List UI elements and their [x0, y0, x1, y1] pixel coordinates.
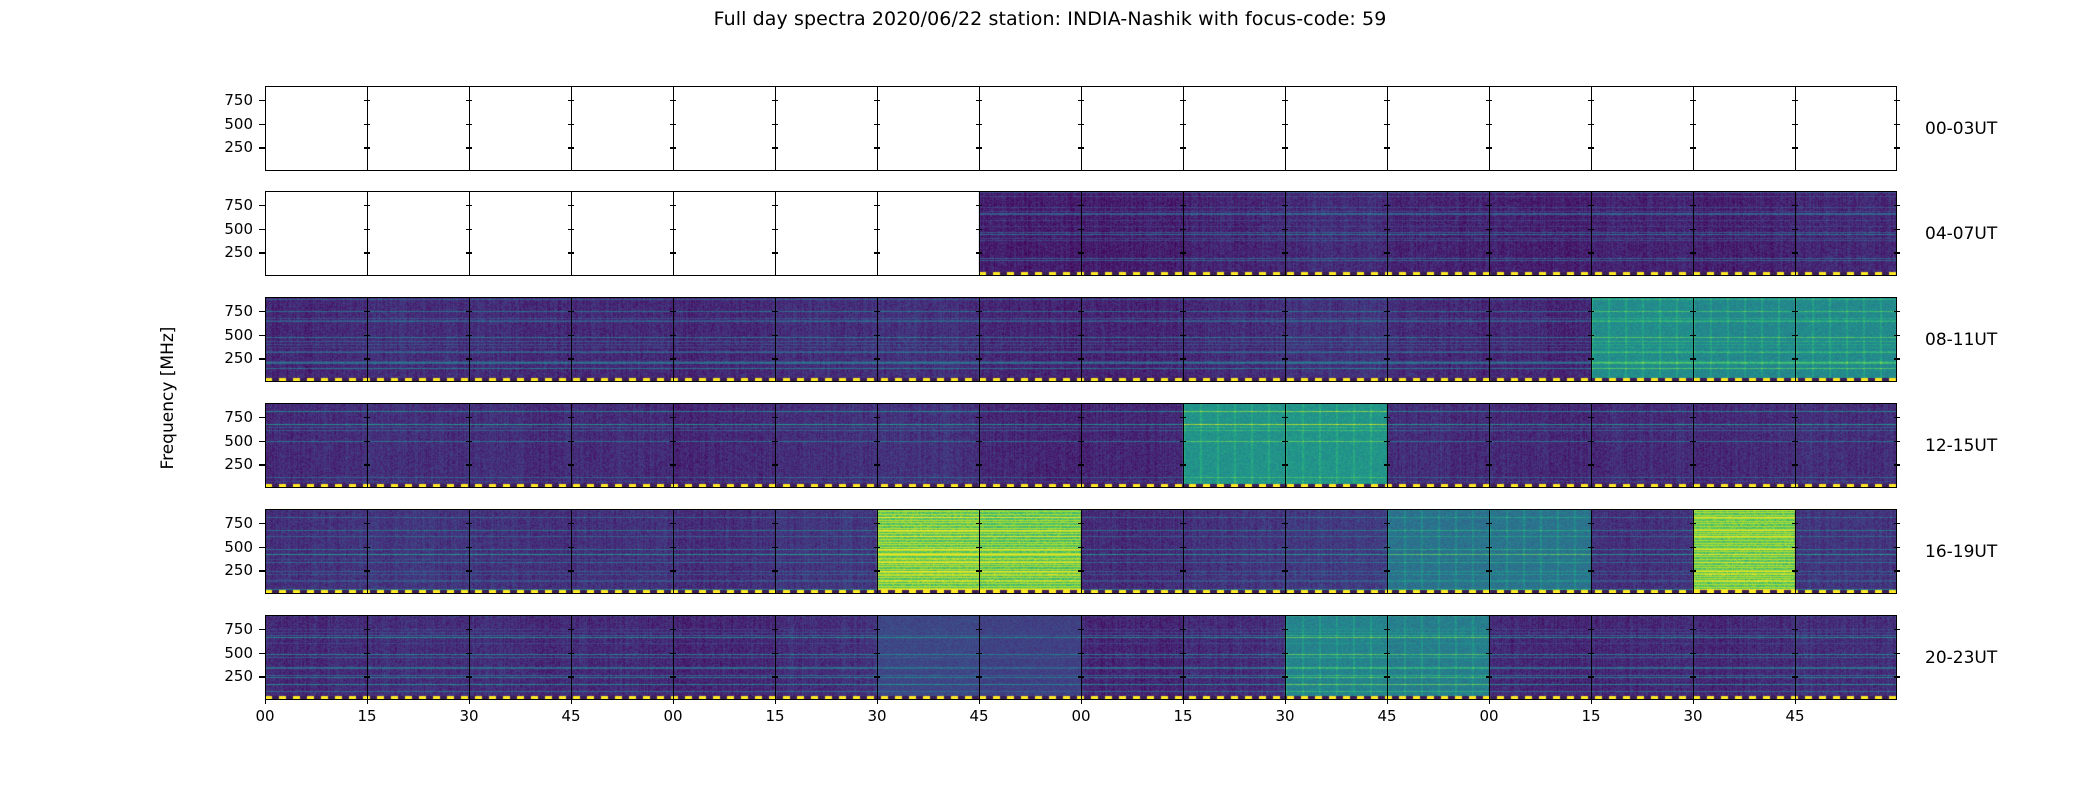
- y-tick-mark: [466, 676, 472, 677]
- y-tick-mark: [1792, 252, 1798, 253]
- y-tick-mark: [1588, 547, 1594, 548]
- y-tick-mark: [1588, 441, 1594, 442]
- subpanel-divider: [469, 615, 470, 700]
- row-label-12-15ut: 12-15UT: [1925, 436, 1997, 456]
- subpanel-divider: [877, 86, 878, 171]
- subpanel-divider: [1183, 191, 1184, 276]
- y-tick-mark: [1486, 205, 1492, 206]
- x-tick-mark: [1591, 700, 1592, 704]
- y-tick-mark: [1690, 417, 1696, 418]
- page-title: Full day spectra 2020/06/22 station: IND…: [0, 8, 2100, 30]
- y-tick-mark: [670, 147, 676, 148]
- y-tick-mark: [1384, 205, 1390, 206]
- y-tick-mark: [1588, 653, 1594, 654]
- subpanel-divider: [1081, 615, 1082, 700]
- x-tick-label: 15: [357, 707, 376, 725]
- y-tick-mark: [1180, 441, 1186, 442]
- y-tick-mark: [1180, 523, 1186, 524]
- subpanel-divider: [571, 509, 572, 594]
- subpanel-divider: [1387, 403, 1388, 488]
- y-tick-mark: [670, 335, 676, 336]
- y-tick-mark: [1792, 676, 1798, 677]
- x-tick-mark: [775, 700, 776, 704]
- y-tick-mark: [1282, 252, 1288, 253]
- subpanel-divider: [673, 297, 674, 382]
- subpanel-divider: [469, 191, 470, 276]
- y-tick-mark: [1486, 311, 1492, 312]
- spectrogram-row-16-19ut: [265, 509, 1897, 594]
- x-tick-label: 30: [1275, 707, 1294, 725]
- subpanel-divider: [1591, 403, 1592, 488]
- y-tick-mark: [364, 358, 370, 359]
- y-tick-mark: [1792, 570, 1798, 571]
- subpanel-divider: [1591, 615, 1592, 700]
- subpanel-divider: [469, 509, 470, 594]
- y-tick-mark: [976, 441, 982, 442]
- y-tick-mark: [1792, 335, 1798, 336]
- y-tick-mark: [1486, 252, 1492, 253]
- y-tick-mark: [1792, 205, 1798, 206]
- y-tick-mark: [364, 441, 370, 442]
- y-tick-mark: [772, 252, 778, 253]
- subpanel-divider: [1591, 509, 1592, 594]
- y-tick-label: 250: [224, 243, 253, 261]
- y-tick-mark: [1180, 464, 1186, 465]
- x-tick-mark: [1183, 700, 1184, 704]
- y-tick-mark: [1894, 676, 1900, 677]
- y-tick-mark: [364, 570, 370, 571]
- y-tick-mark: [1384, 547, 1390, 548]
- subpanel-divider: [1081, 191, 1082, 276]
- y-tick-mark: [1384, 311, 1390, 312]
- y-tick-mark: [1078, 676, 1084, 677]
- y-tick-mark: [1282, 147, 1288, 148]
- y-tick-mark: [1486, 358, 1492, 359]
- y-tick-mark: [670, 311, 676, 312]
- spectrogram-row-20-23ut: [265, 615, 1897, 700]
- subpanel-divider: [1489, 509, 1490, 594]
- y-tick-mark: [772, 147, 778, 148]
- y-tick-mark: [1282, 205, 1288, 206]
- subpanel-divider: [673, 615, 674, 700]
- subpanel-divider: [1795, 297, 1796, 382]
- y-tick-mark: [1486, 547, 1492, 548]
- y-tick-mark: [976, 229, 982, 230]
- y-tick-mark: [1282, 229, 1288, 230]
- subpanel-divider: [775, 403, 776, 488]
- x-tick-mark: [265, 700, 266, 704]
- y-tick-mark: [1384, 523, 1390, 524]
- y-tick-mark: [1384, 464, 1390, 465]
- y-tick-mark: [1078, 229, 1084, 230]
- y-tick-mark: [1180, 547, 1186, 548]
- subpanel-divider: [979, 615, 980, 700]
- y-tick-mark: [976, 358, 982, 359]
- subpanel-divider: [979, 509, 980, 594]
- y-tick-mark: [1180, 653, 1186, 654]
- y-tick-mark: [976, 124, 982, 125]
- subpanel-divider: [877, 403, 878, 488]
- y-tick-mark: [364, 124, 370, 125]
- y-tick-mark: [1792, 547, 1798, 548]
- y-tick-mark: [1078, 124, 1084, 125]
- y-tick-mark: [1486, 441, 1492, 442]
- y-tick-label: 500: [224, 326, 253, 344]
- y-tick-label: 500: [224, 538, 253, 556]
- y-tick-mark: [1486, 629, 1492, 630]
- y-tick-mark: [466, 653, 472, 654]
- y-tick-mark: [772, 335, 778, 336]
- y-tick-mark: [259, 358, 265, 359]
- y-tick-mark: [1180, 147, 1186, 148]
- subpanel-divider: [1081, 297, 1082, 382]
- y-tick-mark: [466, 523, 472, 524]
- y-tick-mark: [364, 523, 370, 524]
- y-tick-mark: [1078, 335, 1084, 336]
- y-tick-mark: [976, 570, 982, 571]
- y-tick-mark: [772, 629, 778, 630]
- y-tick-mark: [772, 523, 778, 524]
- y-tick-mark: [1894, 464, 1900, 465]
- subpanel-divider: [571, 297, 572, 382]
- y-tick-mark: [670, 229, 676, 230]
- y-tick-mark: [259, 205, 265, 206]
- y-tick-mark: [1690, 464, 1696, 465]
- y-tick-mark: [466, 547, 472, 548]
- y-tick-label: 750: [224, 302, 253, 320]
- y-tick-mark: [670, 547, 676, 548]
- y-tick-mark: [1078, 205, 1084, 206]
- y-tick-mark: [1180, 676, 1186, 677]
- y-tick-mark: [1690, 311, 1696, 312]
- subpanel-divider: [775, 191, 776, 276]
- subpanel-divider: [367, 615, 368, 700]
- y-tick-mark: [1894, 124, 1900, 125]
- y-tick-mark: [1486, 676, 1492, 677]
- x-tick-label: 00: [1479, 707, 1498, 725]
- subpanel-divider: [1387, 86, 1388, 171]
- y-tick-mark: [1282, 629, 1288, 630]
- y-tick-mark: [976, 676, 982, 677]
- y-tick-mark: [1078, 629, 1084, 630]
- y-tick-label: 250: [224, 138, 253, 156]
- y-tick-mark: [1588, 124, 1594, 125]
- y-tick-mark: [1894, 229, 1900, 230]
- y-tick-mark: [1384, 358, 1390, 359]
- y-tick-mark: [364, 252, 370, 253]
- y-tick-mark: [1282, 523, 1288, 524]
- y-tick-mark: [466, 358, 472, 359]
- y-tick-mark: [568, 570, 574, 571]
- y-tick-mark: [874, 417, 880, 418]
- y-tick-mark: [1282, 441, 1288, 442]
- y-tick-mark: [466, 124, 472, 125]
- y-tick-mark: [874, 676, 880, 677]
- y-axis-label: Frequency [MHz]: [158, 327, 178, 470]
- subpanel-divider: [1183, 86, 1184, 171]
- y-tick-mark: [1078, 417, 1084, 418]
- y-tick-mark: [772, 358, 778, 359]
- y-tick-mark: [1588, 229, 1594, 230]
- x-tick-label: 45: [969, 707, 988, 725]
- subpanel-divider: [367, 509, 368, 594]
- y-tick-mark: [1690, 629, 1696, 630]
- y-tick-mark: [466, 417, 472, 418]
- y-tick-mark: [1486, 147, 1492, 148]
- y-tick-mark: [259, 252, 265, 253]
- subpanel-divider: [367, 297, 368, 382]
- y-tick-label: 750: [224, 196, 253, 214]
- y-tick-mark: [1078, 547, 1084, 548]
- row-label-00-03ut: 00-03UT: [1925, 119, 1997, 139]
- y-tick-label: 500: [224, 220, 253, 238]
- y-tick-mark: [1282, 358, 1288, 359]
- y-tick-mark: [670, 205, 676, 206]
- y-tick-mark: [874, 252, 880, 253]
- y-tick-mark: [568, 124, 574, 125]
- y-tick-mark: [364, 653, 370, 654]
- y-tick-mark: [466, 441, 472, 442]
- y-tick-mark: [874, 358, 880, 359]
- y-tick-mark: [1282, 676, 1288, 677]
- y-tick-mark: [976, 335, 982, 336]
- y-tick-mark: [568, 358, 574, 359]
- y-tick-mark: [568, 335, 574, 336]
- y-tick-mark: [466, 229, 472, 230]
- subpanel-divider: [1387, 615, 1388, 700]
- y-tick-mark: [1282, 311, 1288, 312]
- y-tick-mark: [1792, 653, 1798, 654]
- y-tick-mark: [1486, 124, 1492, 125]
- y-tick-mark: [1690, 252, 1696, 253]
- subpanel-divider: [1387, 297, 1388, 382]
- y-tick-mark: [466, 205, 472, 206]
- y-tick-mark: [1690, 205, 1696, 206]
- y-tick-mark: [364, 100, 370, 101]
- y-tick-mark: [976, 205, 982, 206]
- y-tick-mark: [1690, 523, 1696, 524]
- x-tick-label: 45: [1377, 707, 1396, 725]
- y-tick-mark: [1690, 653, 1696, 654]
- subpanel-divider: [1693, 191, 1694, 276]
- y-tick-mark: [772, 205, 778, 206]
- y-tick-mark: [874, 124, 880, 125]
- y-tick-mark: [874, 570, 880, 571]
- y-tick-mark: [259, 229, 265, 230]
- subpanel-divider: [469, 86, 470, 171]
- subpanel-divider: [673, 509, 674, 594]
- x-tick-label: 45: [1785, 707, 1804, 725]
- y-tick-mark: [772, 417, 778, 418]
- y-tick-mark: [1894, 205, 1900, 206]
- y-tick-mark: [364, 147, 370, 148]
- subpanel-divider: [1183, 509, 1184, 594]
- subpanel-divider: [1285, 615, 1286, 700]
- subpanel-divider: [1693, 403, 1694, 488]
- y-tick-label: 250: [224, 455, 253, 473]
- subpanel-divider: [1489, 191, 1490, 276]
- y-tick-mark: [976, 464, 982, 465]
- subpanel-divider: [979, 403, 980, 488]
- y-tick-mark: [1486, 229, 1492, 230]
- y-tick-mark: [364, 417, 370, 418]
- y-tick-mark: [874, 547, 880, 548]
- y-tick-mark: [1894, 335, 1900, 336]
- subpanel-divider: [1591, 297, 1592, 382]
- y-tick-mark: [1078, 441, 1084, 442]
- y-tick-mark: [976, 100, 982, 101]
- y-tick-mark: [364, 205, 370, 206]
- y-tick-mark: [874, 147, 880, 148]
- y-tick-mark: [1486, 570, 1492, 571]
- spectrogram-row-04-07ut: [265, 191, 1897, 276]
- y-tick-mark: [772, 464, 778, 465]
- y-tick-mark: [874, 100, 880, 101]
- y-tick-mark: [874, 629, 880, 630]
- subpanel-divider: [979, 297, 980, 382]
- y-tick-mark: [259, 147, 265, 148]
- y-tick-mark: [976, 252, 982, 253]
- y-tick-mark: [1894, 147, 1900, 148]
- y-tick-mark: [1792, 147, 1798, 148]
- y-tick-mark: [259, 100, 265, 101]
- subpanel-divider: [979, 191, 980, 276]
- subpanel-divider: [1387, 509, 1388, 594]
- y-tick-mark: [670, 653, 676, 654]
- y-tick-mark: [1690, 100, 1696, 101]
- spectrogram-row-00-03ut: [265, 86, 1897, 171]
- y-tick-mark: [1588, 676, 1594, 677]
- subpanel-divider: [571, 403, 572, 488]
- y-tick-mark: [670, 100, 676, 101]
- y-tick-mark: [259, 547, 265, 548]
- y-tick-mark: [568, 252, 574, 253]
- y-tick-mark: [772, 100, 778, 101]
- x-tick-mark: [367, 700, 368, 704]
- y-tick-mark: [1180, 335, 1186, 336]
- y-tick-mark: [1690, 335, 1696, 336]
- y-tick-mark: [466, 311, 472, 312]
- y-tick-mark: [1792, 417, 1798, 418]
- y-tick-mark: [1180, 570, 1186, 571]
- y-tick-mark: [976, 629, 982, 630]
- y-tick-mark: [568, 229, 574, 230]
- subpanel-divider: [1183, 403, 1184, 488]
- y-tick-mark: [670, 124, 676, 125]
- subpanel-divider: [1081, 509, 1082, 594]
- y-tick-mark: [1588, 205, 1594, 206]
- y-tick-mark: [568, 653, 574, 654]
- y-tick-mark: [1894, 629, 1900, 630]
- subpanel-divider: [1387, 191, 1388, 276]
- y-tick-mark: [670, 523, 676, 524]
- subpanel-divider: [1795, 615, 1796, 700]
- y-tick-mark: [568, 547, 574, 548]
- y-tick-mark: [1588, 100, 1594, 101]
- y-tick-mark: [1078, 653, 1084, 654]
- y-tick-mark: [670, 464, 676, 465]
- y-tick-mark: [259, 417, 265, 418]
- y-tick-mark: [364, 547, 370, 548]
- y-tick-mark: [1588, 464, 1594, 465]
- y-tick-mark: [670, 441, 676, 442]
- y-tick-mark: [1894, 100, 1900, 101]
- subpanel-divider: [1693, 297, 1694, 382]
- y-tick-mark: [364, 629, 370, 630]
- y-tick-mark: [874, 335, 880, 336]
- subpanel-divider: [877, 509, 878, 594]
- subpanel-divider: [673, 86, 674, 171]
- y-tick-mark: [1894, 417, 1900, 418]
- subpanel-divider: [469, 297, 470, 382]
- y-tick-mark: [670, 358, 676, 359]
- y-tick-label: 750: [224, 514, 253, 532]
- x-tick-label: 15: [765, 707, 784, 725]
- y-tick-mark: [670, 417, 676, 418]
- subpanel-divider: [469, 403, 470, 488]
- y-tick-mark: [1588, 629, 1594, 630]
- y-tick-mark: [466, 100, 472, 101]
- y-tick-mark: [1894, 653, 1900, 654]
- subpanel-divider: [1285, 297, 1286, 382]
- subpanel-divider: [877, 297, 878, 382]
- y-tick-mark: [568, 205, 574, 206]
- y-tick-mark: [1894, 358, 1900, 359]
- y-tick-mark: [1792, 464, 1798, 465]
- subpanel-divider: [1183, 615, 1184, 700]
- y-tick-mark: [1282, 570, 1288, 571]
- y-tick-mark: [670, 570, 676, 571]
- y-tick-label: 500: [224, 644, 253, 662]
- subpanel-divider: [1489, 615, 1490, 700]
- y-tick-mark: [1282, 417, 1288, 418]
- y-tick-mark: [1690, 147, 1696, 148]
- y-tick-mark: [466, 570, 472, 571]
- subpanel-divider: [775, 509, 776, 594]
- x-tick-mark: [1285, 700, 1286, 704]
- subpanel-divider: [877, 191, 878, 276]
- row-label-16-19ut: 16-19UT: [1925, 542, 1997, 562]
- y-tick-mark: [1078, 358, 1084, 359]
- y-tick-mark: [772, 229, 778, 230]
- y-tick-mark: [364, 229, 370, 230]
- subpanel-divider: [775, 86, 776, 171]
- subpanel-divider: [1693, 615, 1694, 700]
- y-tick-mark: [1588, 252, 1594, 253]
- x-tick-label: 00: [1071, 707, 1090, 725]
- y-tick-mark: [874, 205, 880, 206]
- y-tick-mark: [466, 464, 472, 465]
- y-tick-mark: [466, 335, 472, 336]
- y-tick-mark: [568, 464, 574, 465]
- y-tick-mark: [1894, 523, 1900, 524]
- y-tick-mark: [1078, 100, 1084, 101]
- subpanel-divider: [1795, 509, 1796, 594]
- y-tick-mark: [259, 523, 265, 524]
- y-tick-mark: [1792, 441, 1798, 442]
- y-tick-mark: [1894, 570, 1900, 571]
- subpanel-divider: [1591, 191, 1592, 276]
- y-tick-label: 250: [224, 667, 253, 685]
- y-tick-mark: [259, 570, 265, 571]
- y-tick-mark: [1588, 570, 1594, 571]
- x-tick-mark: [1489, 700, 1490, 704]
- y-tick-mark: [1384, 100, 1390, 101]
- row-label-20-23ut: 20-23UT: [1925, 648, 1997, 668]
- y-tick-mark: [976, 417, 982, 418]
- y-tick-mark: [772, 124, 778, 125]
- x-tick-label: 15: [1581, 707, 1600, 725]
